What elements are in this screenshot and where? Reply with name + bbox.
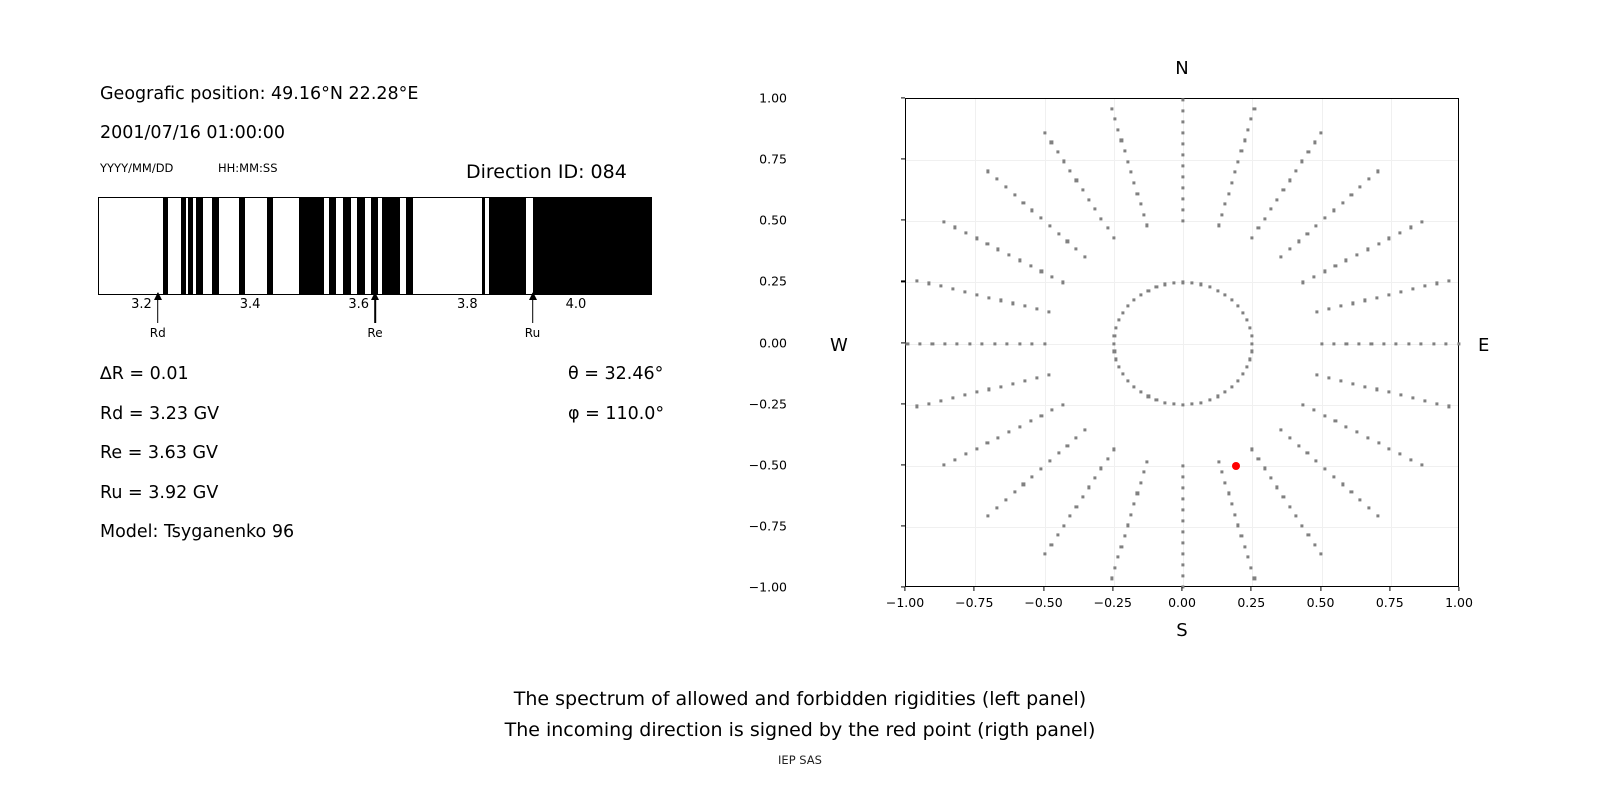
direction-dot bbox=[1062, 524, 1065, 527]
direction-dot bbox=[1424, 399, 1427, 402]
direction-dot bbox=[1006, 342, 1009, 345]
y-axis-tick-mark bbox=[901, 525, 905, 526]
direction-dot bbox=[1024, 305, 1027, 308]
gridline-horizontal bbox=[906, 527, 1458, 528]
direction-dot bbox=[1236, 305, 1239, 308]
direction-dot bbox=[1257, 457, 1260, 460]
direction-dot bbox=[1031, 209, 1034, 212]
y-axis-tick-mark bbox=[901, 403, 905, 404]
direction-dot bbox=[1388, 447, 1391, 450]
compass-label-west: W bbox=[830, 335, 848, 356]
spectrum-values-left: ∆R = 0.01 Rd = 3.23 GV Re = 3.63 GV Ru =… bbox=[100, 355, 294, 553]
direction-dot bbox=[1288, 248, 1291, 251]
direction-dot bbox=[1227, 192, 1230, 195]
direction-dot bbox=[1370, 342, 1373, 345]
direction-dot bbox=[1093, 207, 1096, 210]
direction-dot bbox=[1181, 209, 1184, 212]
direction-dot bbox=[1376, 514, 1379, 517]
direction-dot bbox=[1420, 464, 1423, 467]
direction-dot bbox=[1136, 192, 1139, 195]
direction-dot bbox=[1407, 342, 1410, 345]
direction-dot bbox=[1018, 425, 1021, 428]
theta-value: θ = 32.46° bbox=[568, 355, 664, 395]
direction-dot bbox=[1081, 495, 1084, 498]
direction-dot bbox=[1133, 503, 1136, 506]
spectrum-values-right: θ = 32.46° φ = 110.0° bbox=[568, 355, 664, 434]
direction-id-label: Direction ID: 084 bbox=[466, 161, 627, 183]
direction-dot bbox=[1367, 178, 1370, 181]
direction-dot bbox=[1251, 236, 1254, 239]
direction-dot bbox=[1075, 248, 1078, 251]
direction-dot bbox=[999, 385, 1002, 388]
direction-dot bbox=[1106, 227, 1109, 230]
compass-label-south: S bbox=[1176, 620, 1187, 641]
direction-dot bbox=[1363, 385, 1366, 388]
spectrum-tick-label: 3.8 bbox=[457, 297, 478, 312]
direction-dot bbox=[1327, 307, 1330, 310]
direction-dot bbox=[1181, 132, 1184, 135]
x-axis-tick-label: 0.50 bbox=[1307, 595, 1335, 610]
y-axis-tick-label: −1.00 bbox=[749, 580, 787, 595]
direction-dot bbox=[1181, 541, 1184, 544]
direction-dot bbox=[1307, 534, 1310, 537]
direction-dot bbox=[964, 231, 967, 234]
direction-dot bbox=[1106, 457, 1109, 460]
direction-dot bbox=[1155, 285, 1158, 288]
direction-dot bbox=[1066, 444, 1069, 447]
direction-dot bbox=[1253, 107, 1256, 110]
direction-dot bbox=[1243, 139, 1246, 142]
direction-dot bbox=[1181, 176, 1184, 179]
direction-dot bbox=[956, 342, 959, 345]
direction-dot bbox=[1039, 467, 1042, 470]
direction-dot bbox=[1319, 131, 1322, 134]
direction-dot bbox=[1155, 398, 1158, 401]
direction-dot bbox=[1351, 382, 1354, 385]
direction-dot bbox=[1387, 391, 1390, 394]
direction-dot bbox=[1044, 131, 1047, 134]
direction-dot bbox=[1117, 128, 1120, 131]
direction-dot bbox=[1123, 149, 1126, 152]
direction-dot bbox=[1163, 283, 1166, 286]
direction-dot bbox=[1117, 365, 1120, 368]
direction-dot bbox=[1181, 99, 1184, 102]
direction-dot bbox=[1057, 452, 1060, 455]
direction-dot bbox=[1237, 524, 1240, 527]
direction-dot bbox=[1432, 342, 1435, 345]
x-axis-tick-mark bbox=[974, 587, 975, 591]
direction-dot bbox=[1334, 264, 1337, 267]
direction-dot bbox=[1315, 224, 1318, 227]
direction-dot bbox=[1436, 282, 1439, 285]
y-axis-tick-mark bbox=[901, 464, 905, 465]
direction-dot bbox=[1013, 193, 1016, 196]
direction-dot bbox=[1181, 563, 1184, 566]
direction-dot bbox=[1301, 524, 1304, 527]
direction-dot bbox=[1113, 350, 1116, 353]
direction-dot bbox=[987, 296, 990, 299]
forbidden-band bbox=[163, 198, 168, 294]
direction-dot bbox=[1048, 374, 1051, 377]
direction-dot bbox=[963, 393, 966, 396]
direction-dot bbox=[915, 405, 918, 408]
y-axis-tick-label: 0.50 bbox=[759, 213, 787, 228]
geographic-position-label: Geografic position: 49.16°N 22.28°E bbox=[100, 84, 418, 104]
direction-dot bbox=[1409, 226, 1412, 229]
direction-dot bbox=[1181, 121, 1184, 124]
direction-dot bbox=[1100, 217, 1103, 220]
direction-dot bbox=[943, 342, 946, 345]
direction-dot bbox=[951, 396, 954, 399]
direction-dot bbox=[1029, 264, 1032, 267]
direction-dot bbox=[1199, 283, 1202, 286]
direction-dot bbox=[1050, 543, 1053, 546]
y-axis-tick-mark bbox=[901, 159, 905, 160]
y-axis-tick-label: 1.00 bbox=[759, 91, 787, 106]
direction-dot bbox=[1227, 492, 1230, 495]
direction-dot bbox=[1351, 302, 1354, 305]
direction-dot bbox=[1315, 310, 1318, 313]
direction-dot bbox=[1320, 342, 1323, 345]
direction-dot bbox=[1050, 141, 1053, 144]
direction-dot bbox=[1457, 342, 1460, 345]
direction-dot bbox=[1237, 160, 1240, 163]
direction-dot bbox=[1323, 414, 1326, 417]
direction-dot bbox=[1190, 403, 1193, 406]
direction-dot bbox=[1230, 181, 1233, 184]
direction-dot bbox=[1250, 334, 1253, 337]
direction-dot bbox=[1126, 305, 1129, 308]
caption-line-2: The incoming direction is signed by the … bbox=[0, 715, 1600, 746]
y-axis-tick-label: −0.25 bbox=[749, 396, 787, 411]
direction-dot bbox=[1248, 326, 1251, 329]
direction-dot bbox=[1236, 379, 1239, 382]
direction-dot bbox=[1208, 398, 1211, 401]
x-axis-tick-label: 1.00 bbox=[1445, 595, 1473, 610]
direction-dot bbox=[951, 287, 954, 290]
direction-dot bbox=[1240, 534, 1243, 537]
direction-dot bbox=[1312, 275, 1315, 278]
gridline-horizontal bbox=[906, 160, 1458, 161]
x-axis-tick-mark bbox=[1181, 587, 1182, 591]
direction-dot bbox=[1062, 160, 1065, 163]
direction-dot bbox=[1332, 209, 1335, 212]
direction-dot bbox=[1306, 452, 1309, 455]
forbidden-band bbox=[212, 198, 219, 294]
direction-dot bbox=[1377, 442, 1380, 445]
direction-dot bbox=[1123, 534, 1126, 537]
direction-dot bbox=[1250, 350, 1253, 353]
direction-dot bbox=[1399, 290, 1402, 293]
direction-dot bbox=[1069, 514, 1072, 517]
footer-credit: IEP SAS bbox=[0, 753, 1600, 767]
direction-dot bbox=[1312, 409, 1315, 412]
direction-dot bbox=[1056, 150, 1059, 153]
direction-map-panel: N S W E −1.00−0.75−0.50−0.250.000.250.50… bbox=[800, 40, 1500, 660]
x-axis-tick-label: 0.25 bbox=[1237, 595, 1265, 610]
direction-dot bbox=[1246, 128, 1249, 131]
forbidden-band bbox=[267, 198, 274, 294]
x-axis-tick-label: −1.00 bbox=[886, 595, 924, 610]
direction-dot bbox=[1448, 405, 1451, 408]
direction-dot bbox=[1007, 431, 1010, 434]
direction-dot bbox=[1359, 185, 1362, 188]
compass-label-east: E bbox=[1478, 335, 1489, 356]
forbidden-band bbox=[299, 198, 323, 294]
direction-dot bbox=[1246, 556, 1249, 559]
direction-dot bbox=[1323, 217, 1326, 220]
direction-dot bbox=[939, 285, 942, 288]
direction-dot bbox=[1245, 319, 1248, 322]
y-axis-tick-label: 0.75 bbox=[759, 152, 787, 167]
direction-dot bbox=[1087, 486, 1090, 489]
direction-dot bbox=[943, 220, 946, 223]
y-axis-tick-mark bbox=[901, 220, 905, 221]
direction-dot bbox=[1172, 403, 1175, 406]
direction-dot bbox=[1301, 403, 1304, 406]
y-axis-tick-label: −0.75 bbox=[749, 518, 787, 533]
x-axis-tick-label: −0.75 bbox=[955, 595, 993, 610]
figure-caption: The spectrum of allowed and forbidden ri… bbox=[0, 684, 1600, 746]
direction-dot bbox=[995, 178, 998, 181]
direction-dot bbox=[1051, 275, 1054, 278]
direction-dot bbox=[1243, 545, 1246, 548]
direction-dot bbox=[1018, 342, 1021, 345]
direction-dot bbox=[1163, 401, 1166, 404]
spectrum-tick-label: 3.2 bbox=[131, 297, 152, 312]
direction-dot bbox=[1117, 319, 1120, 322]
direction-dot bbox=[1115, 326, 1118, 329]
direction-dot bbox=[987, 514, 990, 517]
direction-dot bbox=[1083, 428, 1086, 431]
gridline-vertical bbox=[1183, 99, 1184, 586]
direction-dot bbox=[987, 170, 990, 173]
direction-dot bbox=[975, 293, 978, 296]
direction-dot bbox=[1395, 342, 1398, 345]
direction-dot bbox=[1240, 149, 1243, 152]
direction-dot bbox=[954, 458, 957, 461]
direction-dot bbox=[1279, 255, 1282, 258]
direction-dot bbox=[1031, 475, 1034, 478]
direction-dot bbox=[1375, 296, 1378, 299]
direction-dot bbox=[927, 402, 930, 405]
direction-dot bbox=[1332, 342, 1335, 345]
direction-dot bbox=[1136, 492, 1139, 495]
datetime-label: 2001/07/16 01:00:00 bbox=[100, 123, 285, 143]
y-axis-tick-label: 0.25 bbox=[759, 274, 787, 289]
direction-dot bbox=[1036, 307, 1039, 310]
direction-dot bbox=[1056, 534, 1059, 537]
direction-dot bbox=[1199, 401, 1202, 404]
rigidity-spectrum-panel: Geografic position: 49.16°N 22.28°E 2001… bbox=[0, 0, 740, 660]
direction-dot bbox=[1181, 110, 1184, 113]
direction-dot bbox=[927, 282, 930, 285]
direction-dot bbox=[975, 447, 978, 450]
direction-dot bbox=[1306, 232, 1309, 235]
direction-dot bbox=[1113, 118, 1116, 121]
x-axis-tick-label: 0.00 bbox=[1168, 595, 1196, 610]
spectrum-tick-label: 3.4 bbox=[240, 297, 261, 312]
direction-dot bbox=[1387, 293, 1390, 296]
forbidden-band bbox=[482, 198, 485, 294]
direction-dot bbox=[1112, 342, 1115, 345]
caption-line-1: The spectrum of allowed and forbidden ri… bbox=[0, 684, 1600, 715]
x-axis-tick-mark bbox=[1112, 587, 1113, 591]
direction-dot bbox=[1288, 179, 1291, 182]
direction-dot bbox=[939, 399, 942, 402]
direction-dot bbox=[1181, 154, 1184, 157]
direction-dot bbox=[1040, 414, 1043, 417]
direction-dot bbox=[986, 242, 989, 245]
direction-dot bbox=[1355, 431, 1358, 434]
direction-dot bbox=[1048, 224, 1051, 227]
direction-dot bbox=[1147, 289, 1150, 292]
x-axis-tick-mark bbox=[1320, 587, 1321, 591]
forbidden-band bbox=[533, 198, 652, 294]
direction-dot bbox=[1087, 198, 1090, 201]
direction-dot bbox=[1132, 385, 1135, 388]
direction-dot bbox=[1216, 395, 1219, 398]
direction-dot bbox=[981, 342, 984, 345]
direction-dot bbox=[1181, 403, 1184, 406]
direction-dot bbox=[1319, 553, 1322, 556]
direction-dot bbox=[1093, 476, 1096, 479]
direction-dot bbox=[1216, 289, 1219, 292]
direction-dot bbox=[1276, 486, 1279, 489]
direction-dot bbox=[1181, 464, 1184, 467]
direction-dot bbox=[1366, 436, 1369, 439]
direction-dot bbox=[986, 442, 989, 445]
direction-dot bbox=[1230, 385, 1233, 388]
direction-scatter-plot bbox=[905, 98, 1459, 587]
direction-dot bbox=[1066, 240, 1069, 243]
forbidden-band bbox=[181, 198, 186, 294]
forbidden-band bbox=[382, 198, 400, 294]
direction-dot bbox=[1409, 458, 1412, 461]
direction-dot bbox=[1061, 403, 1064, 406]
direction-dot bbox=[1366, 248, 1369, 251]
direction-dot bbox=[1253, 577, 1256, 580]
direction-dot bbox=[1110, 577, 1113, 580]
direction-dot bbox=[1142, 213, 1145, 216]
forbidden-band bbox=[188, 198, 192, 294]
forbidden-band bbox=[343, 198, 352, 294]
direction-dot bbox=[1233, 171, 1236, 174]
direction-dot bbox=[1282, 495, 1285, 498]
direction-dot bbox=[1377, 242, 1380, 245]
direction-dot bbox=[1113, 566, 1116, 569]
y-axis-tick-mark bbox=[901, 342, 905, 343]
direction-dot bbox=[1339, 379, 1342, 382]
direction-dot bbox=[1126, 379, 1129, 382]
direction-dot bbox=[1315, 374, 1318, 377]
direction-dot bbox=[1269, 476, 1272, 479]
x-axis-tick-mark bbox=[904, 587, 905, 591]
direction-dot bbox=[1367, 506, 1370, 509]
direction-dot bbox=[1220, 471, 1223, 474]
direction-dot bbox=[1301, 160, 1304, 163]
direction-dot bbox=[1341, 201, 1344, 204]
direction-dot bbox=[1217, 224, 1220, 227]
direction-dot bbox=[1220, 213, 1223, 216]
direction-dot bbox=[1269, 207, 1272, 210]
direction-dot bbox=[1190, 281, 1193, 284]
arrow-head-icon bbox=[371, 292, 379, 300]
x-axis-tick-mark bbox=[1458, 587, 1459, 591]
direction-dot bbox=[1420, 220, 1423, 223]
direction-dot bbox=[1399, 231, 1402, 234]
direction-dot bbox=[1147, 395, 1150, 398]
direction-dot bbox=[1081, 188, 1084, 191]
direction-dot bbox=[1139, 203, 1142, 206]
direction-dot bbox=[1069, 169, 1072, 172]
direction-dot bbox=[1382, 342, 1385, 345]
direction-dot bbox=[1363, 299, 1366, 302]
direction-dot bbox=[1121, 372, 1124, 375]
x-axis-tick-mark bbox=[1251, 587, 1252, 591]
forbidden-band bbox=[371, 198, 379, 294]
direction-dot bbox=[963, 290, 966, 293]
direction-dot bbox=[1133, 181, 1136, 184]
direction-dot bbox=[1146, 224, 1149, 227]
arrow-head-icon bbox=[154, 292, 162, 300]
direction-dot bbox=[1048, 459, 1051, 462]
direction-dot bbox=[1013, 491, 1016, 494]
rigidity-spectrum-bar bbox=[98, 197, 652, 295]
direction-dot bbox=[1181, 187, 1184, 190]
direction-dot bbox=[1075, 436, 1078, 439]
direction-dot bbox=[1048, 310, 1051, 313]
direction-dot bbox=[1341, 483, 1344, 486]
direction-dot bbox=[1376, 170, 1379, 173]
phi-value: φ = 110.0° bbox=[568, 395, 664, 435]
direction-dot bbox=[1129, 171, 1132, 174]
direction-dot bbox=[1181, 519, 1184, 522]
direction-dot bbox=[987, 388, 990, 391]
direction-dot bbox=[1345, 342, 1348, 345]
direction-dot bbox=[1172, 281, 1175, 284]
rd-value: Rd = 3.23 GV bbox=[100, 395, 294, 435]
marker-label: Rd bbox=[150, 326, 166, 340]
direction-dot bbox=[1276, 198, 1279, 201]
direction-dot bbox=[1345, 259, 1348, 262]
direction-dot bbox=[1339, 305, 1342, 308]
direction-dot bbox=[1217, 460, 1220, 463]
direction-dot bbox=[1241, 311, 1244, 314]
direction-dot bbox=[1399, 453, 1402, 456]
direction-dot bbox=[997, 248, 1000, 251]
direction-dot bbox=[1126, 524, 1129, 527]
y-axis-tick-label: 0.00 bbox=[759, 335, 787, 350]
direction-dot bbox=[1051, 409, 1054, 412]
direction-dot bbox=[1208, 285, 1211, 288]
direction-dot bbox=[1004, 185, 1007, 188]
forbidden-band bbox=[406, 198, 414, 294]
direction-dot bbox=[1022, 483, 1025, 486]
model-value: Model: Tsyganenko 96 bbox=[100, 513, 294, 553]
direction-dot bbox=[1323, 270, 1326, 273]
direction-dot bbox=[1129, 513, 1132, 516]
direction-dot bbox=[1139, 390, 1142, 393]
direction-dot bbox=[1334, 420, 1337, 423]
direction-dot bbox=[1029, 420, 1032, 423]
direction-dot bbox=[1294, 169, 1297, 172]
direction-dot bbox=[993, 342, 996, 345]
direction-dot bbox=[1282, 188, 1285, 191]
direction-dot bbox=[1146, 460, 1149, 463]
x-axis-tick-label: −0.25 bbox=[1094, 595, 1132, 610]
incoming-direction-point[interactable] bbox=[1232, 462, 1240, 470]
